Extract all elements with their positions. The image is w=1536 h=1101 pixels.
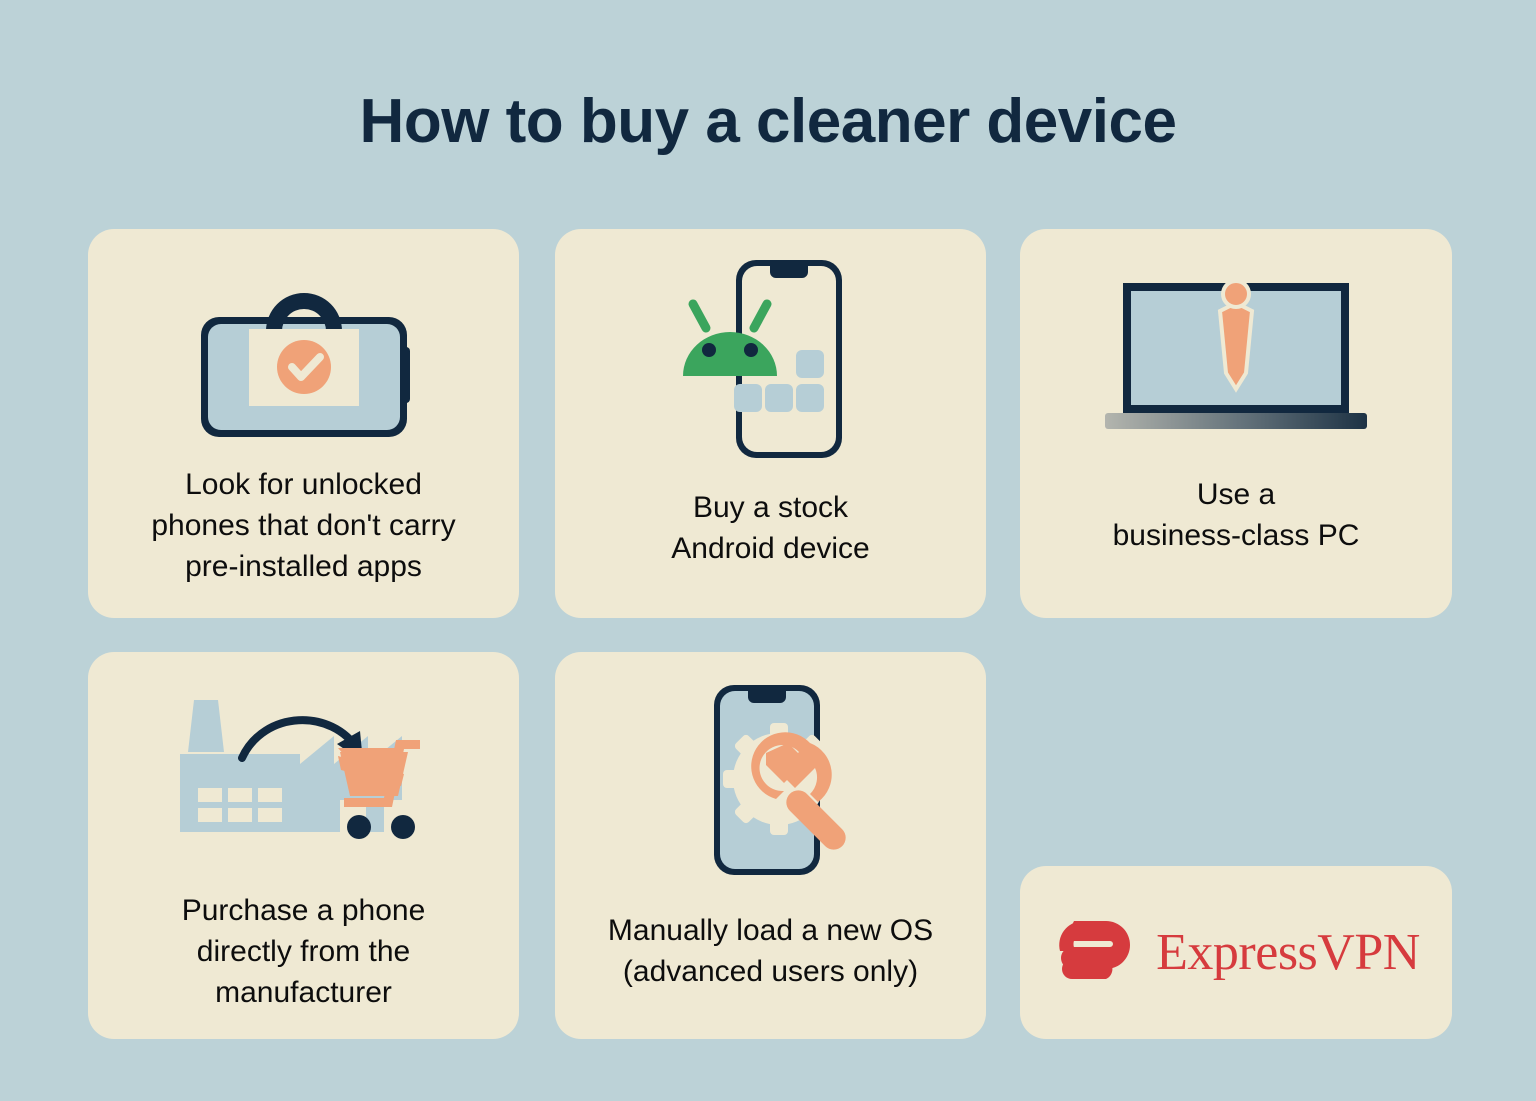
card-manual-os-load[interactable]: Manually load a new OS (advanced users o… xyxy=(555,652,986,1039)
android-phone-icon xyxy=(555,251,986,466)
expressvpn-wordmark: ExpressVPN xyxy=(1156,927,1420,979)
card-caption: Buy a stock Android device xyxy=(555,487,986,569)
card-stock-android[interactable]: Buy a stock Android device xyxy=(555,229,986,618)
page-title: How to buy a cleaner device xyxy=(0,88,1536,156)
card-caption: Use a business-class PC xyxy=(1020,474,1452,556)
card-unlocked-phones[interactable]: Look for unlocked phones that don't carr… xyxy=(88,229,519,618)
card-business-class-pc[interactable]: Use a business-class PC xyxy=(1020,229,1452,618)
phone-gear-wrench-icon xyxy=(555,674,986,884)
card-caption: Manually load a new OS (advanced users o… xyxy=(555,910,986,992)
card-grid: Look for unlocked phones that don't carr… xyxy=(88,229,1452,1039)
laptop-necktie-icon xyxy=(1020,259,1452,459)
card-caption: Look for unlocked phones that don't carr… xyxy=(88,464,519,587)
factory-cart-arrow-icon xyxy=(88,682,519,882)
card-expressvpn-logo[interactable]: ExpressVPN xyxy=(1020,866,1452,1039)
infographic-root: How to buy a cleaner device xyxy=(0,0,1536,1101)
card-buy-from-manufacturer[interactable]: Purchase a phone directly from the manuf… xyxy=(88,652,519,1039)
card-caption: Purchase a phone directly from the manuf… xyxy=(88,890,519,1013)
locked-phone-check-icon xyxy=(88,251,519,466)
expressvpn-e-mark-icon xyxy=(1052,919,1136,986)
